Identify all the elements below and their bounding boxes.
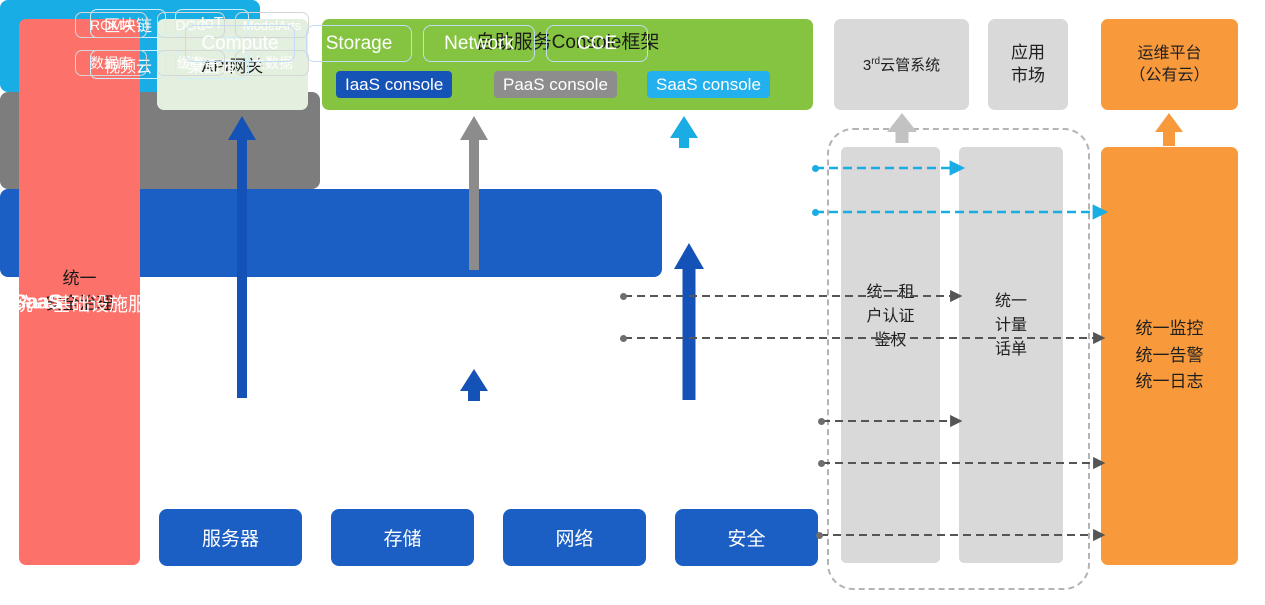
infra-service-network[interactable]: Network xyxy=(423,25,535,62)
connector-dot-icon-paas-2 xyxy=(620,335,627,342)
ops-monitoring-line3: 统一日志 xyxy=(1136,369,1204,395)
metering-line3: 话单 xyxy=(995,338,1027,362)
ops-monitoring-line1: 统一监控 xyxy=(1136,316,1204,342)
tenant-auth-line2: 户认证 xyxy=(866,305,914,329)
iaas-console-chip[interactable]: IaaS console xyxy=(336,71,452,98)
ops-monitoring-line2: 统一告警 xyxy=(1136,343,1204,369)
hardware-server-box[interactable]: 服务器 xyxy=(159,509,302,566)
arrow-up-icon-paas-to-console xyxy=(460,116,488,270)
tenant-auth-line1: 统一租 xyxy=(866,281,914,305)
arrow-up-icon-infra-to-saas xyxy=(675,243,703,400)
architecture-diagram: 统一 安全治理 API网关 自助服务Console框架 IaaS console… xyxy=(0,0,1265,605)
hardware-security-box[interactable]: 安全 xyxy=(675,509,818,566)
infra-service-cce[interactable]: CCE xyxy=(546,25,648,62)
hardware-network-box[interactable]: 网络 xyxy=(503,509,646,566)
app-market-line2: 市场 xyxy=(1011,65,1045,87)
connector-dot-icon-saas-2 xyxy=(812,209,819,216)
connector-dot-icon-saas-1 xyxy=(812,165,819,172)
connector-dot-icon-infra-2 xyxy=(818,460,825,467)
connector-dot-icon-hardware xyxy=(816,532,823,539)
infra-service-storage[interactable]: Storage xyxy=(306,25,412,62)
connector-dot-icon-paas-1 xyxy=(620,293,627,300)
ops-platform-box: 运维平台 （公有云） xyxy=(1101,19,1238,110)
third-party-cloud-management-box: 3rd云管系统 xyxy=(834,19,969,110)
third-party-label: 3rd云管系统 xyxy=(863,54,940,75)
arrow-up-icon-to-ops-platform xyxy=(1155,113,1183,146)
tenant-auth-line3: 鉴权 xyxy=(866,329,914,353)
arrow-up-icon-to-third-party xyxy=(887,113,917,143)
arrow-up-icon-saas-to-console xyxy=(670,116,698,148)
saas-console-chip[interactable]: SaaS console xyxy=(647,71,770,98)
arrow-up-icon-infra-to-api-gateway xyxy=(228,116,256,398)
paas-service-roma[interactable]: ROMA xyxy=(75,12,147,38)
metering-line1: 统一 xyxy=(995,290,1027,314)
paas-service-database[interactable]: 数据库 xyxy=(75,50,147,76)
app-market-line1: 应用 xyxy=(1011,42,1045,64)
third-party-superscript: rd xyxy=(871,56,880,67)
ops-monitoring-box: 统一监控 统一告警 统一日志 xyxy=(1101,147,1238,565)
metering-billing-column: 统一 计量 话单 xyxy=(959,147,1063,563)
app-market-box: 应用 市场 xyxy=(988,19,1068,110)
paas-console-chip[interactable]: PaaS console xyxy=(494,71,617,98)
ops-platform-line1: 运维平台 xyxy=(1129,43,1209,65)
ops-platform-line2: （公有云） xyxy=(1129,65,1209,87)
infra-service-compute[interactable]: Compute xyxy=(185,25,295,62)
metering-line2: 计量 xyxy=(995,314,1027,338)
arrow-up-icon-infra-to-paas xyxy=(460,369,488,401)
unified-infrastructure-label: 统一基础设施服务 xyxy=(14,289,166,316)
hardware-storage-box[interactable]: 存储 xyxy=(331,509,474,566)
tenant-auth-column: 统一租 户认证 鉴权 xyxy=(841,147,940,563)
connector-dot-icon-infra-1 xyxy=(818,418,825,425)
